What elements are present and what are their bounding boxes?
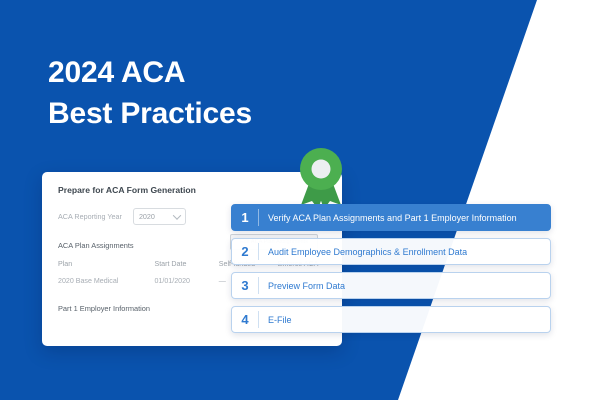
step-label-3: Preview Form Data bbox=[259, 281, 345, 291]
step-label-4: E-File bbox=[259, 315, 292, 325]
app-card-title: Prepare for ACA Form Generation bbox=[58, 185, 326, 195]
step-item-1[interactable]: 1 Verify ACA Plan Assignments and Part 1… bbox=[231, 204, 551, 231]
column-header-plan: Plan bbox=[58, 260, 154, 277]
reporting-year-select[interactable]: 2020 bbox=[133, 208, 186, 225]
chevron-down-icon bbox=[173, 211, 181, 219]
page-title: 2024 ACA Best Practices bbox=[48, 52, 378, 135]
steps-list: 1 Verify ACA Plan Assignments and Part 1… bbox=[231, 204, 551, 340]
step-number-2: 2 bbox=[232, 244, 258, 259]
reporting-year-label: ACA Reporting Year bbox=[58, 212, 122, 221]
step-label-1: Verify ACA Plan Assignments and Part 1 E… bbox=[259, 213, 517, 223]
step-number-3: 3 bbox=[232, 278, 258, 293]
reporting-year-value: 2020 bbox=[139, 212, 155, 221]
step-number-4: 4 bbox=[232, 312, 258, 327]
step-item-2[interactable]: 2 Audit Employee Demographics & Enrollme… bbox=[231, 238, 551, 265]
column-header-start-date: Start Date bbox=[154, 260, 218, 277]
step-label-2: Audit Employee Demographics & Enrollment… bbox=[259, 247, 467, 257]
step-item-3[interactable]: 3 Preview Form Data bbox=[231, 272, 551, 299]
cell-start-date: 01/01/2020 bbox=[154, 277, 218, 285]
step-number-1: 1 bbox=[232, 210, 258, 225]
cell-plan: 2020 Base Medical bbox=[58, 277, 154, 285]
step-item-4[interactable]: 4 E-File bbox=[231, 306, 551, 333]
award-ribbon-icon bbox=[292, 147, 350, 209]
slide-canvas: 2024 ACA Best Practices Prepare for ACA … bbox=[0, 0, 600, 400]
